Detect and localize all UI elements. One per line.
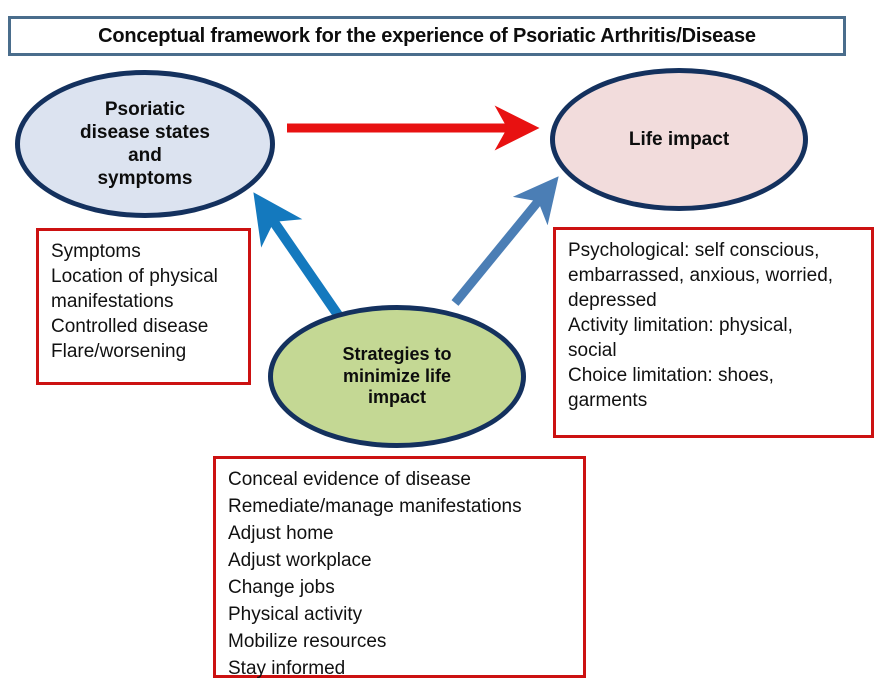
node-life-impact[interactable]: Life impact — [550, 68, 808, 211]
node-strategies-label: Strategies tominimize lifeimpact — [332, 344, 461, 410]
detail-box-life-impact: Psychological: self conscious,embarrasse… — [553, 227, 874, 438]
arrow-strategies-to-disease — [267, 212, 338, 315]
detail-line: Conceal evidence of disease — [228, 467, 573, 494]
node-psoriatic-disease-states[interactable]: Psoriaticdisease statesandsymptoms — [15, 70, 275, 218]
diagram-title-box: Conceptual framework for the experience … — [8, 16, 846, 56]
node-disease-label: Psoriaticdisease statesandsymptoms — [70, 98, 220, 191]
detail-line: Controlled disease — [51, 314, 238, 339]
node-label-line: impact — [342, 387, 451, 409]
detail-line: Physical activity — [228, 602, 573, 629]
detail-line: Psychological: self conscious, — [568, 238, 861, 263]
node-strategies-minimize-life-impact[interactable]: Strategies tominimize lifeimpact — [268, 305, 526, 448]
page-title: Conceptual framework for the experience … — [98, 25, 756, 48]
node-life-label: Life impact — [619, 128, 739, 151]
node-label-line: Psoriatic — [80, 98, 210, 121]
detail-line: Mobilize resources — [228, 629, 573, 656]
detail-line: Choice limitation: shoes, — [568, 363, 861, 388]
arrow-strategies-to-life — [455, 193, 545, 303]
detail-line: garments — [568, 388, 861, 413]
node-label-line: Life impact — [629, 128, 729, 151]
detail-line: social — [568, 338, 861, 363]
detail-box-disease-states: SymptomsLocation of physicalmanifestatio… — [36, 228, 251, 385]
node-label-line: symptoms — [80, 167, 210, 190]
node-label-line: Strategies to — [342, 344, 451, 366]
detail-line: Adjust home — [228, 521, 573, 548]
node-label-line: disease states — [80, 121, 210, 144]
detail-line: Symptoms — [51, 239, 238, 264]
detail-line: Flare/worsening — [51, 339, 238, 364]
detail-line: Remediate/manage manifestations — [228, 494, 573, 521]
diagram-canvas: Conceptual framework for the experience … — [0, 0, 896, 693]
detail-line: Change jobs — [228, 575, 573, 602]
detail-box-strategies: Conceal evidence of diseaseRemediate/man… — [213, 456, 586, 678]
detail-line: Location of physical — [51, 264, 238, 289]
detail-line: embarrassed, anxious, worried, — [568, 263, 861, 288]
detail-line: manifestations — [51, 289, 238, 314]
node-label-line: and — [80, 144, 210, 167]
detail-line: depressed — [568, 288, 861, 313]
detail-line: Stay informed — [228, 656, 573, 683]
node-label-line: minimize life — [342, 366, 451, 388]
detail-line: Activity limitation: physical, — [568, 313, 861, 338]
detail-line: Adjust workplace — [228, 548, 573, 575]
